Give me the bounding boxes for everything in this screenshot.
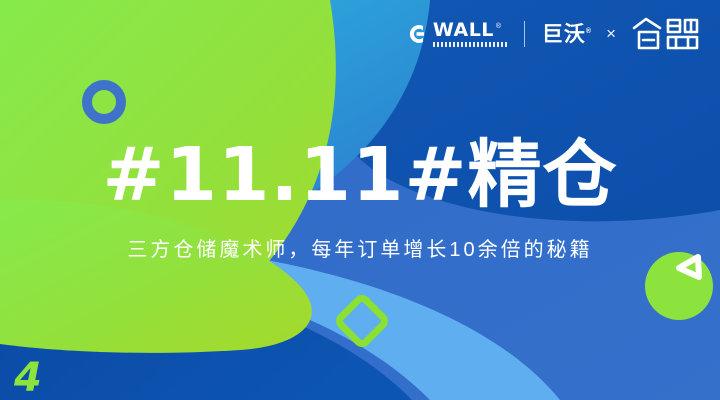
cwall-wordmark: WALL — [433, 21, 494, 40]
partner-separator: × — [606, 24, 616, 44]
cwall-c-mark-icon — [404, 23, 426, 45]
headline: #11.11#精仓 — [0, 138, 720, 212]
cangmeng-logo-icon — [630, 15, 702, 53]
subtitle: 三方仓储魔术师，每年订单增长10余倍的秘籍 — [0, 238, 720, 262]
logo-bar: WALL ® 巨沃® × — [404, 14, 702, 54]
corner-number: 4 — [14, 355, 41, 400]
cwall-subtext-bars — [433, 42, 507, 47]
cwall-cn-label: 巨沃 — [542, 23, 586, 46]
cwall-registered-mark: ® — [496, 23, 501, 30]
logo-divider — [524, 21, 525, 47]
ring-decoration-icon — [82, 80, 126, 124]
promo-banner: 4 WALL ® 巨沃® × — [0, 0, 720, 400]
cwall-cn-registered-mark: ® — [586, 28, 592, 35]
cwall-logo: WALL ® — [404, 21, 507, 47]
cwall-cn-name: 巨沃® — [542, 24, 592, 45]
